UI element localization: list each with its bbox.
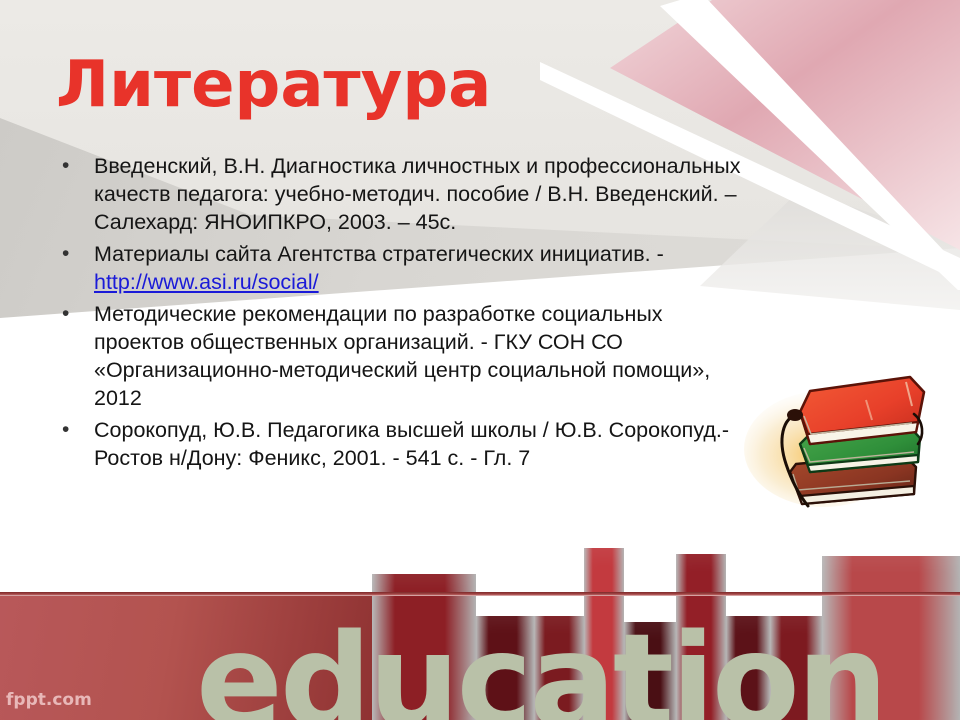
bullet-marker: • [62, 240, 69, 268]
bottom-bookshelf-band: education [0, 520, 960, 720]
stack-of-books-icon [738, 344, 944, 530]
bullet-line: Салехард: ЯНОИПКРО, 2003. – 45с. [94, 208, 852, 236]
hyperlink-asi-social[interactable]: http://www.asi.ru/social/ [94, 270, 319, 294]
bullet-line: Введенский, В.Н. Диагностика личностных … [94, 152, 852, 180]
shelf-divider-line [0, 592, 960, 596]
list-item: • Сорокопуд, Ю.В. Педагогика высшей школ… [56, 416, 852, 472]
bullet-marker: • [62, 416, 69, 444]
education-wordmark: education [196, 618, 885, 720]
bullet-line: качеств педагога: учебно-методич. пособи… [94, 180, 852, 208]
slide-body: • Введенский, В.Н. Диагностика личностны… [56, 152, 852, 476]
bullet-line: Материалы сайта Агентства стратегических… [94, 240, 852, 268]
fppt-watermark: fppt.com [6, 690, 92, 710]
list-item: • Методические рекомендации по разработк… [56, 300, 852, 412]
bullet-marker: • [62, 152, 69, 180]
slide-title: Литература [56, 52, 491, 119]
bullet-line: Методические рекомендации по разработке … [94, 300, 852, 328]
list-item: • Материалы сайта Агентства стратегическ… [56, 240, 852, 296]
bullet-marker: • [62, 300, 69, 328]
presentation-slide: Литература • Введенский, В.Н. Диагностик… [0, 0, 960, 720]
list-item: • Введенский, В.Н. Диагностика личностны… [56, 152, 852, 236]
stack-of-books-image [738, 344, 944, 530]
